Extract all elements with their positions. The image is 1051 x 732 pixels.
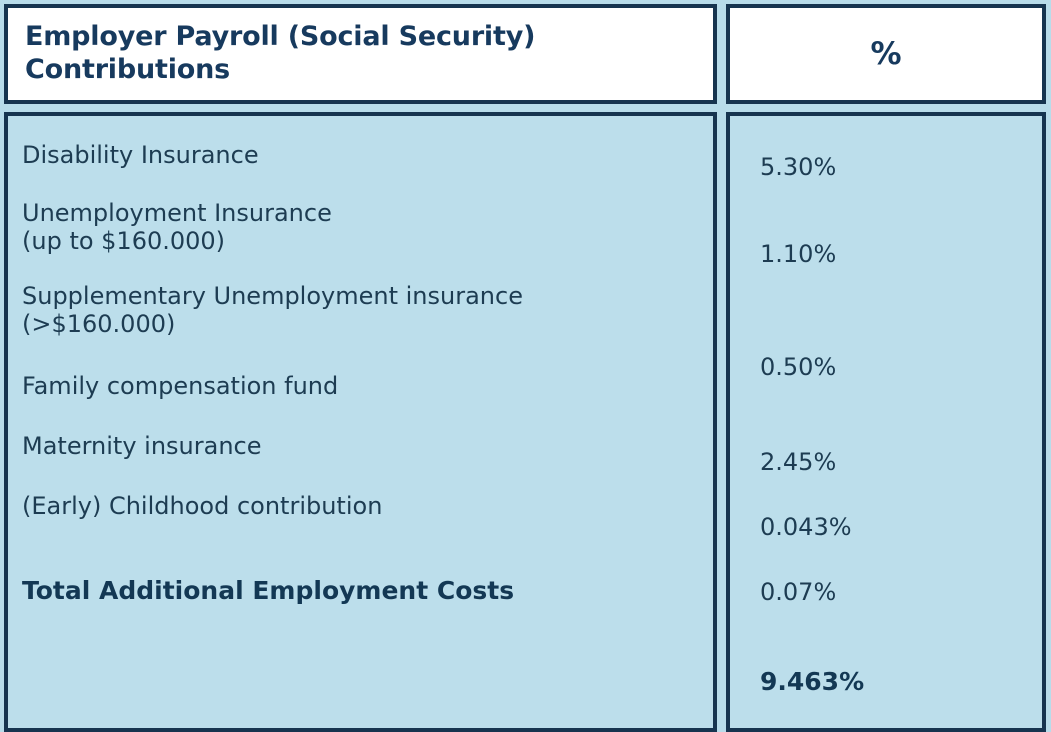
- row-label: Unemployment Insurance (up to $160.000): [22, 199, 695, 255]
- payroll-contributions-table: Employer Payroll (Social Security) Contr…: [0, 0, 1051, 629]
- row-label: Supplementary Unemployment insurance (>$…: [22, 282, 695, 338]
- body-cell-values: 5.30% 1.10% 0.50% 2.45% 0.043% 0.07% 9.4…: [726, 112, 1046, 732]
- table-value-cell-total: 9.463%: [760, 663, 1042, 728]
- table-row: Supplementary Unemployment insurance (>$…: [22, 282, 695, 372]
- header-label-text: Employer Payroll (Social Security) Contr…: [25, 21, 697, 87]
- row-value-total: 9.463%: [760, 668, 1042, 696]
- table-header-row: Employer Payroll (Social Security) Contr…: [4, 4, 1046, 104]
- header-cell-percent: %: [726, 4, 1046, 104]
- row-value: 0.50%: [760, 354, 1042, 380]
- table-row-total: Total Additional Employment Costs: [22, 576, 695, 636]
- table-row: Maternity insurance: [22, 432, 695, 492]
- row-label: Family compensation fund: [22, 372, 695, 400]
- table-row: (Early) Childhood contribution: [22, 492, 695, 576]
- table-row: Disability Insurance: [22, 141, 695, 199]
- table-body-row: Disability Insurance Unemployment Insura…: [4, 112, 1046, 732]
- table-value-cell: 1.10%: [760, 212, 1042, 324]
- row-label: (Early) Childhood contribution: [22, 492, 695, 520]
- table-row: Family compensation fund: [22, 372, 695, 432]
- row-value: 2.45%: [760, 449, 1042, 475]
- table-value-cell: 0.07%: [760, 574, 1042, 663]
- table-value-cell: 0.043%: [760, 509, 1042, 574]
- table-value-cell: 2.45%: [760, 444, 1042, 509]
- row-value: 0.043%: [760, 514, 1042, 540]
- table-row: Unemployment Insurance (up to $160.000): [22, 199, 695, 282]
- header-percent-text: %: [870, 36, 901, 72]
- row-label: Maternity insurance: [22, 432, 695, 460]
- row-value: 1.10%: [760, 241, 1042, 267]
- table-value-cell: 0.50%: [760, 324, 1042, 444]
- table-value-cell: 5.30%: [760, 141, 1042, 212]
- body-cell-labels: Disability Insurance Unemployment Insura…: [4, 112, 717, 732]
- row-label: Disability Insurance: [22, 141, 695, 169]
- row-label-total: Total Additional Employment Costs: [22, 576, 695, 605]
- header-cell-label: Employer Payroll (Social Security) Contr…: [4, 4, 717, 104]
- row-value: 0.07%: [760, 579, 1042, 605]
- row-value: 5.30%: [760, 154, 1042, 180]
